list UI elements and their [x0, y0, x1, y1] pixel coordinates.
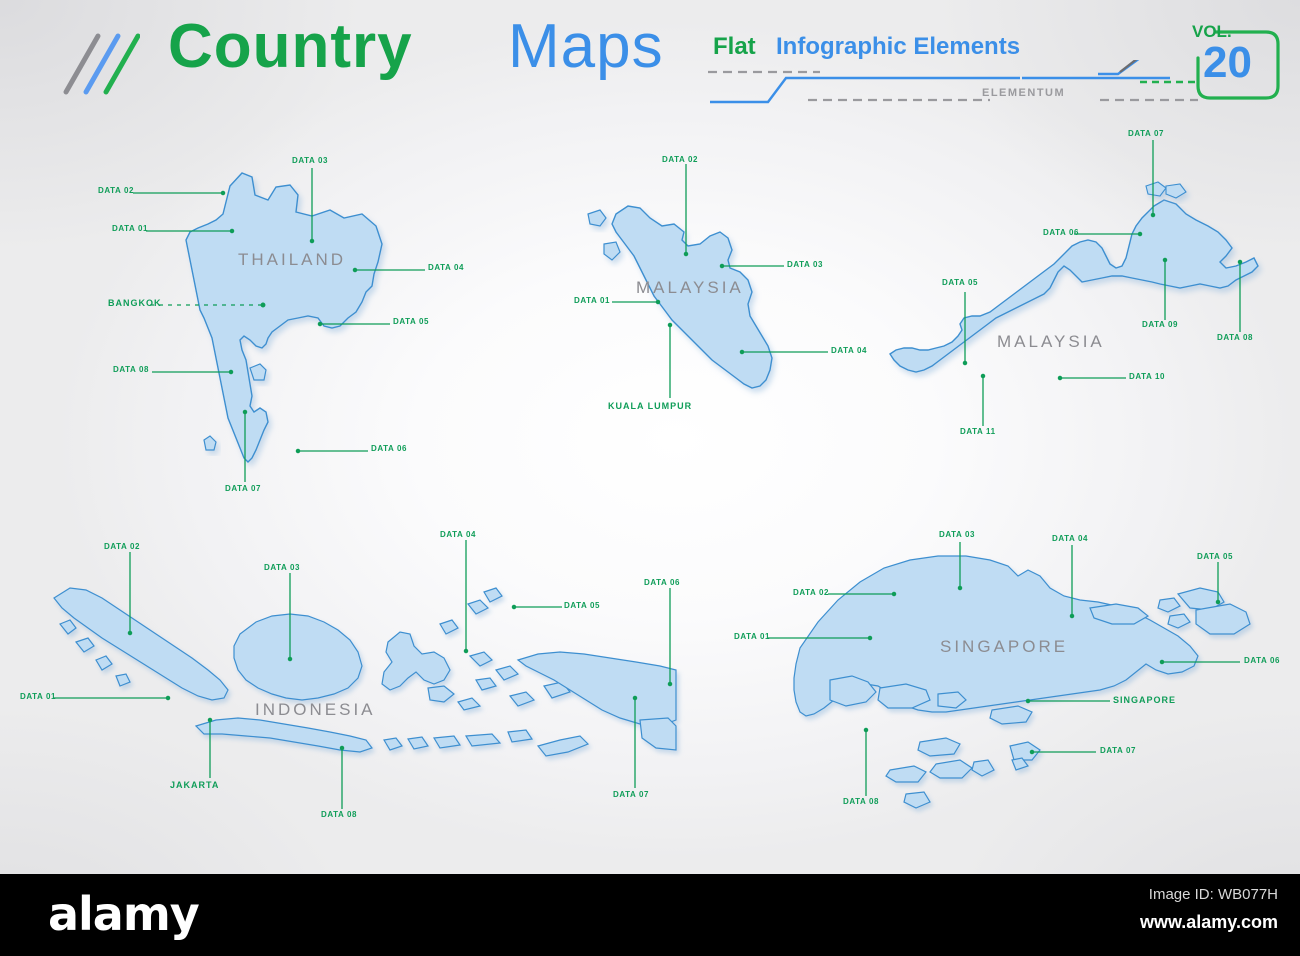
label-indonesia-data-03[interactable]: DATA 03 [264, 563, 300, 572]
label-thailand-data-03[interactable]: DATA 03 [292, 156, 328, 165]
label-malaysia-b-data-06[interactable]: DATA 06 [1043, 228, 1079, 237]
label-singapore-data-07[interactable]: DATA 07 [1100, 746, 1136, 755]
label-thailand-data-01[interactable]: DATA 01 [112, 224, 148, 233]
page-title-primary: Country [168, 16, 413, 78]
label-malaysia-p-data-04[interactable]: DATA 04 [831, 346, 867, 355]
map-malaysia-peninsular[interactable]: MALAYSIA DATA 02 DATA 03 DATA 01 DATA 04… [570, 140, 890, 435]
label-indonesia-jakarta[interactable]: JAKARTA [170, 780, 219, 790]
label-singapore-data-04[interactable]: DATA 04 [1052, 534, 1088, 543]
map-malaysia-borneo[interactable]: MALAYSIA DATA 07 DATA 06 DATA 05 DATA 09… [880, 120, 1280, 445]
label-singapore-city[interactable]: SINGAPORE [1113, 695, 1176, 705]
label-malaysia-p-data-01[interactable]: DATA 01 [574, 296, 610, 305]
image-id-text: Image ID: WB077H [1149, 886, 1278, 903]
label-malaysia-p-kuala-lumpur[interactable]: KUALA LUMPUR [608, 401, 692, 411]
label-thailand-data-02[interactable]: DATA 02 [98, 186, 134, 195]
label-malaysia-p-data-02[interactable]: DATA 02 [662, 155, 698, 164]
country-label-thailand: THAILAND [238, 250, 346, 270]
subtitle-flat: Flat [713, 33, 756, 61]
label-singapore-data-02[interactable]: DATA 02 [793, 588, 829, 597]
map-singapore[interactable]: SINGAPORE DATA 03 DATA 04 DATA 05 DATA 0… [760, 520, 1290, 830]
label-malaysia-b-data-11[interactable]: DATA 11 [960, 427, 996, 436]
label-malaysia-p-data-03[interactable]: DATA 03 [787, 260, 823, 269]
label-thailand-data-08[interactable]: DATA 08 [113, 365, 149, 374]
label-indonesia-data-08[interactable]: DATA 08 [321, 810, 357, 819]
triple-slash-icon [62, 26, 140, 104]
label-thailand-data-07[interactable]: DATA 07 [225, 484, 261, 493]
footer-watermark-bar: alamy Image ID: WB077H www.alamy.com [0, 874, 1300, 956]
singapore-map-shape[interactable] [760, 520, 1290, 830]
label-indonesia-data-05[interactable]: DATA 05 [564, 601, 600, 610]
label-malaysia-b-data-09[interactable]: DATA 09 [1142, 320, 1178, 329]
page-title-secondary: Maps [508, 16, 664, 78]
label-thailand-data-04[interactable]: DATA 04 [428, 263, 464, 272]
malaysia-borneo-map-shape[interactable] [880, 120, 1280, 445]
label-indonesia-data-02[interactable]: DATA 02 [104, 542, 140, 551]
infographic-canvas: Country Maps Flat Infographic Elements E… [0, 0, 1300, 956]
label-indonesia-data-07[interactable]: DATA 07 [613, 790, 649, 799]
label-malaysia-b-data-10[interactable]: DATA 10 [1129, 372, 1165, 381]
label-singapore-data-06[interactable]: DATA 06 [1244, 656, 1280, 665]
label-singapore-data-08[interactable]: DATA 08 [843, 797, 879, 806]
label-thailand-bangkok[interactable]: BANGKOK [108, 298, 162, 308]
label-thailand-data-05[interactable]: DATA 05 [393, 317, 429, 326]
indonesia-map-shape[interactable] [40, 520, 730, 830]
country-label-malaysia-peninsular: MALAYSIA [636, 278, 744, 298]
country-label-singapore: SINGAPORE [940, 637, 1068, 657]
label-malaysia-b-data-08[interactable]: DATA 08 [1217, 333, 1253, 342]
country-label-indonesia: INDONESIA [255, 700, 376, 720]
volume-number: 20 [1203, 41, 1252, 85]
map-indonesia[interactable]: INDONESIA DATA 02 DATA 03 DATA 04 DATA 0… [40, 520, 730, 830]
label-indonesia-data-04[interactable]: DATA 04 [440, 530, 476, 539]
subtitle-infographic-elements: Infographic Elements [776, 33, 1020, 61]
label-malaysia-b-data-05[interactable]: DATA 05 [942, 278, 978, 287]
header-decoration-lines [700, 60, 1200, 108]
label-singapore-data-03[interactable]: DATA 03 [939, 530, 975, 539]
header: Country Maps Flat Infographic Elements E… [0, 0, 1300, 120]
label-malaysia-b-data-07[interactable]: DATA 07 [1128, 129, 1164, 138]
label-singapore-data-05[interactable]: DATA 05 [1197, 552, 1233, 561]
label-indonesia-data-01[interactable]: DATA 01 [20, 692, 56, 701]
alamy-url-text: www.alamy.com [1140, 912, 1278, 933]
label-thailand-data-06[interactable]: DATA 06 [371, 444, 407, 453]
alamy-brand-logo: alamy [48, 887, 199, 941]
label-singapore-data-01[interactable]: DATA 01 [734, 632, 770, 641]
map-thailand[interactable]: THAILAND DATA 02 DATA 01 DATA 03 DATA 04… [90, 140, 480, 510]
country-label-malaysia-borneo: MALAYSIA [997, 332, 1105, 352]
label-indonesia-data-06[interactable]: DATA 06 [644, 578, 680, 587]
